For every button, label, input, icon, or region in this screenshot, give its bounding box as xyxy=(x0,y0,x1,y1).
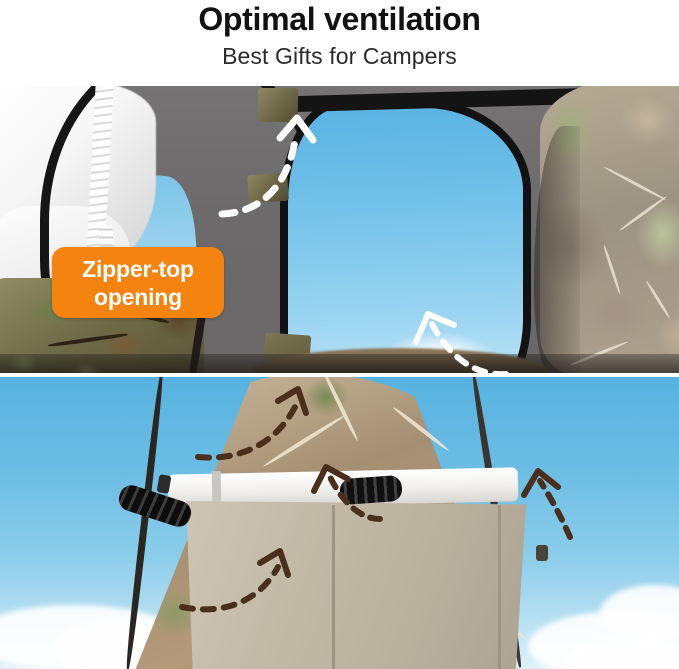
badge-zipper-top-opening: Zipper-topopening xyxy=(52,247,224,318)
bottom-photo: 190T Polyester Locking rope Silver Coati… xyxy=(0,377,679,669)
badge-zipper-label: Zipper-topopening xyxy=(82,255,194,311)
locking-rope-sleeve-right xyxy=(339,475,403,505)
infographic-page: Optimal ventilation Best Gifts for Campe… xyxy=(0,0,679,669)
panel-crease xyxy=(498,505,501,669)
tent-bottom-shadow xyxy=(0,354,679,373)
page-subtitle: Best Gifts for Campers xyxy=(0,42,679,70)
top-photo: Zipper-topopening Window xyxy=(0,86,679,373)
band-seam xyxy=(212,471,222,505)
silver-coated-panel xyxy=(186,501,526,669)
page-title: Optimal ventilation xyxy=(0,0,679,38)
panel-crease xyxy=(332,505,335,669)
window-opening-sky xyxy=(288,108,523,373)
velcro-tab-left xyxy=(247,173,289,204)
tent-clip xyxy=(536,545,548,561)
header: Optimal ventilation Best Gifts for Campe… xyxy=(0,0,679,86)
velcro-tab-top xyxy=(258,88,298,122)
